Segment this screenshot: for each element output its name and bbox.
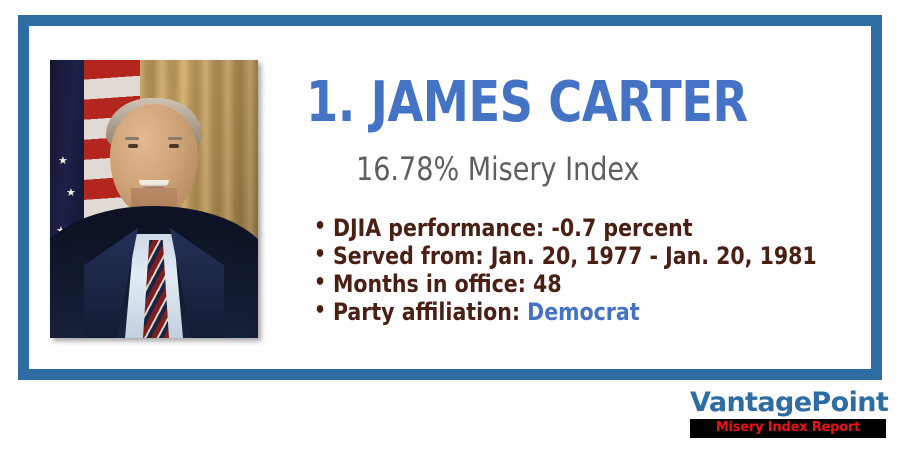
president-portrait: ★ ★ ★ ★ [50,60,258,338]
logo-tagline: Misery Index Report [690,421,886,435]
portrait-mouth [139,180,169,188]
flag-star: ★ [66,188,76,199]
misery-index-subtitle: 16.78% Misery Index [356,151,640,187]
fact-label: Months in office: [333,270,526,298]
president-fact-list: DJIA performance: -0.7 percentServed fro… [314,214,843,326]
president-rank-and-name: 1. JAMES CARTER [306,74,748,132]
fact-value: -0.7 percent [551,214,692,242]
portrait-eye-right [169,144,179,148]
vantagepoint-logo: VantagePoint Misery Index Report [690,388,886,438]
fact-item: DJIA performance: -0.7 percent [314,214,817,242]
portrait-brow-right [168,137,182,140]
logo-wordmark: VantagePoint [690,388,886,417]
fact-label: Served from: [333,242,484,270]
fact-item: Party affiliation: Democrat [314,298,817,326]
fact-label: Party affiliation: [333,298,520,326]
portrait-eye-left [128,144,138,148]
fact-value: Democrat [527,298,639,326]
misery-index-report-card: ★ ★ ★ ★ 1. JAMES CARTER 16.78% Misery In… [0,0,900,450]
fact-value: 48 [533,270,562,298]
fact-item: Months in office: 48 [314,270,817,298]
fact-item: Served from: Jan. 20, 1977 - Jan. 20, 19… [314,242,817,270]
logo-tagline-bar: Misery Index Report [690,419,886,438]
portrait-image: ★ ★ ★ ★ [50,60,258,338]
fact-label: DJIA performance: [333,214,544,242]
flag-star: ★ [58,156,68,167]
portrait-brow-left [125,137,139,140]
fact-value: Jan. 20, 1977 - Jan. 20, 1981 [491,242,817,270]
